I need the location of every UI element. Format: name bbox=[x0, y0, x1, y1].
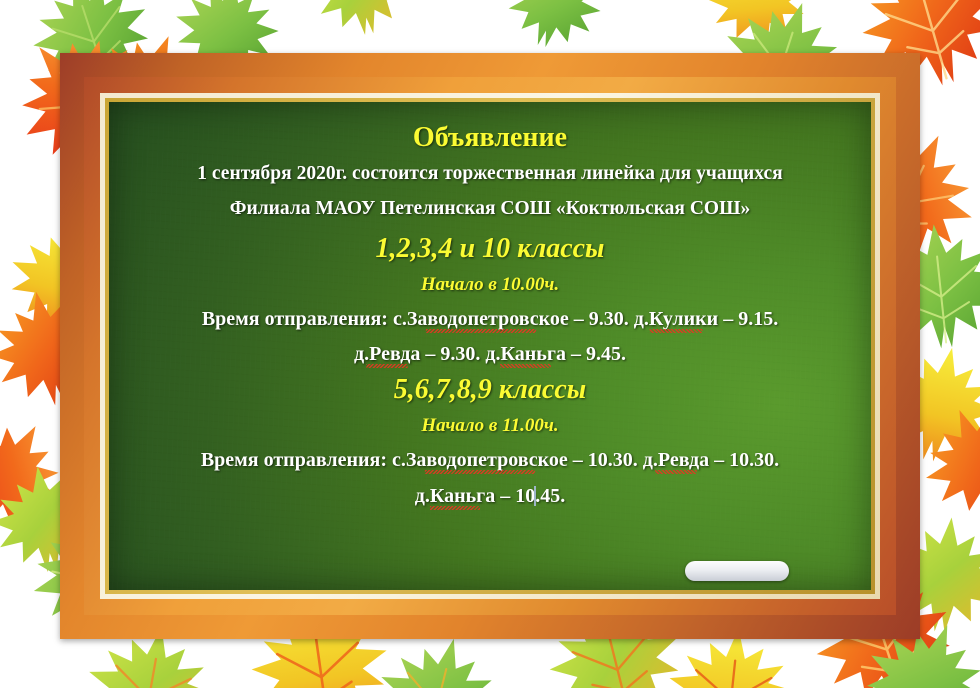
board-frame: Объявление 1 сентября 2020г. состоится т… bbox=[60, 53, 920, 639]
text-run: – 10.30. bbox=[568, 449, 643, 471]
text-run: – 10 bbox=[495, 485, 535, 507]
text-run: – 9.30. bbox=[569, 308, 634, 330]
board-frame-inner-highlight: Объявление 1 сентября 2020г. состоится т… bbox=[100, 93, 880, 599]
schedule-group-1: 1,2,3,4 и 10 классы Начало в 10.00ч. Вре… bbox=[135, 233, 845, 366]
departure-label: Время отправления: bbox=[202, 308, 388, 330]
board-frame-gold-trim: Объявление 1 сентября 2020г. состоится т… bbox=[105, 98, 875, 594]
misspelled-word: с.Заводопетровское bbox=[392, 449, 568, 471]
announcement-content: Объявление 1 сентября 2020г. состоится т… bbox=[109, 102, 871, 507]
schedule-group-2: 5,6,7,8,9 классы Начало в 11.00ч. Время … bbox=[135, 374, 845, 507]
departure-label: Время отправления: bbox=[201, 449, 387, 471]
departure-stops: д.Каньга – 10.45. bbox=[415, 485, 566, 507]
departure-stops: с.Заводопетровское – 10.30. д.Ревда – 10… bbox=[392, 449, 779, 471]
text-run: .45. bbox=[535, 485, 565, 507]
misspelled-word: д.Каньга bbox=[415, 485, 496, 507]
intro-line-1: 1 сентября 2020г. состоится торжественна… bbox=[135, 163, 845, 185]
leaf-cluster-top bbox=[304, 0, 812, 59]
misspelled-word: д.Кулики bbox=[634, 308, 718, 330]
departure-line-1: Время отправления: с.Заводопетровское – … bbox=[135, 308, 845, 330]
text-run: – 10.30. bbox=[709, 449, 779, 471]
text-run: – 9.45. bbox=[566, 343, 626, 365]
class-list-heading: 5,6,7,8,9 классы bbox=[135, 374, 845, 406]
intro-line-2: Филиала МАОУ Петелинская СОШ «Коктюльска… bbox=[135, 198, 845, 220]
chalkboard: Объявление 1 сентября 2020г. состоится т… bbox=[109, 102, 871, 590]
board-frame-bevel: Объявление 1 сентября 2020г. состоится т… bbox=[84, 77, 896, 615]
departure-line-1: Время отправления: с.Заводопетровское – … bbox=[135, 449, 845, 471]
start-time: Начало в 10.00ч. bbox=[135, 274, 845, 296]
departure-line-2: д.Каньга – 10.45. bbox=[135, 485, 845, 507]
announcement-slide: Объявление 1 сентября 2020г. состоится т… bbox=[0, 0, 980, 688]
start-time: Начало в 11.00ч. bbox=[135, 415, 845, 437]
misspelled-word: д.Ревда bbox=[354, 343, 420, 365]
class-list-heading: 1,2,3,4 и 10 классы bbox=[135, 233, 845, 265]
page-title: Объявление bbox=[135, 122, 845, 154]
misspelled-word: д.Ревда bbox=[643, 449, 709, 471]
chalk-eraser[interactable] bbox=[685, 561, 789, 581]
departure-stops: д.Ревда – 9.30. д.Каньга – 9.45. bbox=[354, 343, 626, 365]
departure-stops: с.Заводопетровское – 9.30. д.Кулики – 9.… bbox=[393, 308, 778, 330]
text-run: – 9.15. bbox=[718, 308, 778, 330]
misspelled-word: д.Каньга bbox=[485, 343, 566, 365]
text-run: – 9.30. bbox=[420, 343, 485, 365]
misspelled-word: с.Заводопетровское bbox=[393, 308, 569, 330]
departure-line-2: д.Ревда – 9.30. д.Каньга – 9.45. bbox=[135, 343, 845, 365]
